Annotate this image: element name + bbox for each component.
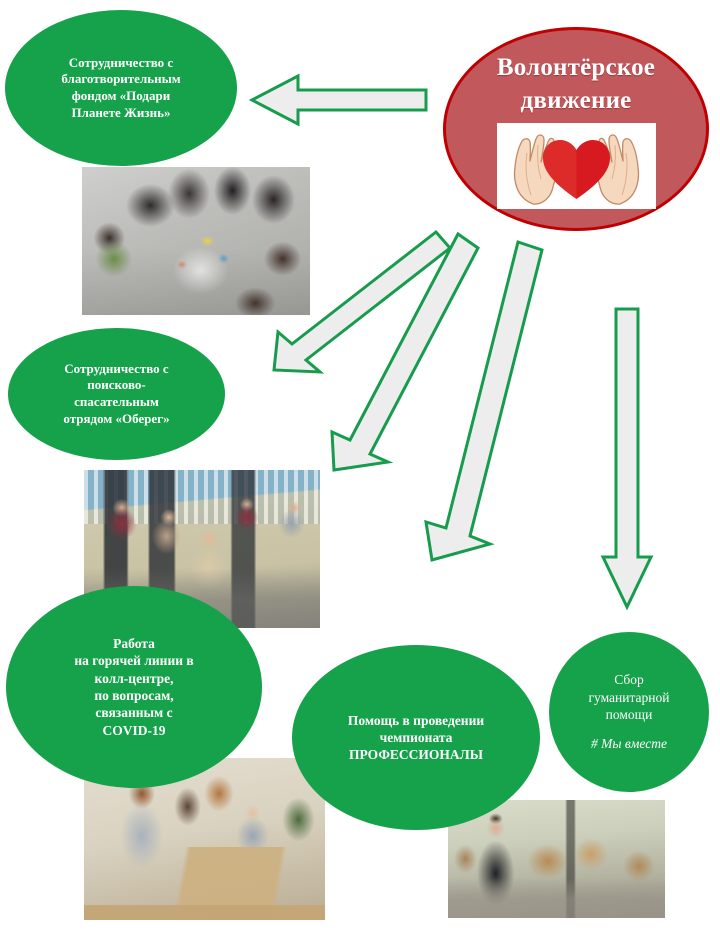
poster-canvas: left down-left down-left down-left down … [0,0,720,932]
node-search-rescue[interactable]: Сотрудничество с поисково- спасательным … [8,328,225,460]
arrow-label: down-left [268,377,269,378]
arrow-label: down [600,610,601,611]
node-humanitarian-aid-label: Сбор гуманитарной помощи [580,671,677,723]
node-covid-hotline-label: Работа на горячей линии в колл-центре, п… [66,635,201,739]
center-node-title: Волонтёрское движение [497,52,655,117]
arrow-to-professionals: down-left [420,236,550,566]
arrow-to-humanitarian-aid: down [600,305,654,610]
node-professionals[interactable]: Помощь в проведении чемпионата ПРОФЕССИО… [292,645,540,830]
center-node-volunteer-movement[interactable]: Волонтёрское движение [443,27,709,231]
node-humanitarian-aid[interactable]: Сбор гуманитарной помощи # Мы вместе [549,632,709,792]
node-professionals-label: Помощь в проведении чемпионата ПРОФЕССИО… [340,712,492,764]
node-covid-hotline[interactable]: Работа на горячей линии в колл-центре, п… [6,586,262,788]
arrow-to-charity-fund: left [250,70,428,130]
photo-warehouse [448,800,665,918]
node-charity-fund[interactable]: Сотрудничество с благотворительным фондо… [5,10,237,166]
node-humanitarian-aid-hashtag: # Мы вместе [583,735,675,752]
arrow-label: down-left [326,476,327,477]
arrow-label: down-left [420,566,421,567]
node-search-rescue-label: Сотрудничество с поисково- спасательным … [55,361,177,428]
arrow-label: left [250,130,251,131]
heart-in-hands-icon [497,123,656,209]
node-charity-fund-label: Сотрудничество с благотворительным фондо… [53,55,188,122]
